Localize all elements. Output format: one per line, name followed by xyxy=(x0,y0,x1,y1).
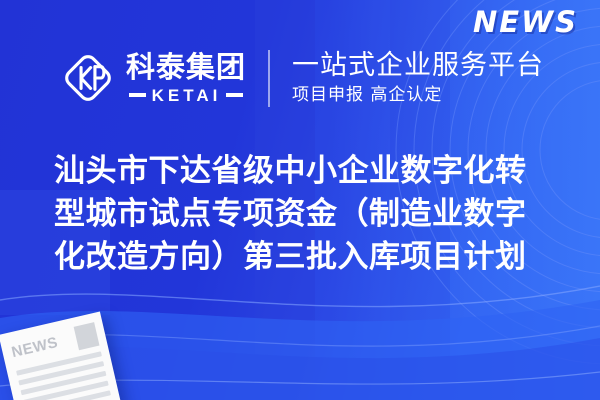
article-title-line-3: 化改造方向）第三批入库项目计划 xyxy=(54,236,546,279)
article-title-line-1: 汕头市下达省级中小企业数字化转 xyxy=(54,150,546,193)
ketai-diamond-kp-logo-icon xyxy=(62,52,114,104)
news-banner: NEWS 科泰集团 KETAI xyxy=(0,0,600,400)
tagline-secondary: 项目申报 高企认定 xyxy=(292,86,544,105)
banner-header: 科泰集团 KETAI 一站式企业服务平台 项目申报 高企认定 xyxy=(0,38,600,118)
article-title-line-2: 型城市试点专项资金（制造业数字 xyxy=(54,193,546,236)
wordmark-dash-left xyxy=(129,93,146,97)
header-divider xyxy=(268,50,270,107)
brand-logo[interactable]: 科泰集团 KETAI xyxy=(62,52,246,104)
tagline-block: 一站式企业服务平台 项目申报 高企认定 xyxy=(292,51,544,105)
newspaper-headline: NEWS xyxy=(10,335,59,360)
article-title: 汕头市下达省级中小企业数字化转 型城市试点专项资金（制造业数字 化改造方向）第三… xyxy=(0,150,600,279)
tagline-primary: 一站式企业服务平台 xyxy=(292,51,544,80)
brand-name-en-row: KETAI xyxy=(126,87,246,104)
brand-name-cn: 科泰集团 xyxy=(126,53,246,82)
wordmark-dash-right xyxy=(226,93,243,97)
brand-name-en: KETAI xyxy=(152,87,222,104)
newspaper-photo-placeholder xyxy=(74,322,100,350)
news-badge: NEWS xyxy=(473,5,578,39)
brand-wordmark: 科泰集团 KETAI xyxy=(126,53,246,104)
